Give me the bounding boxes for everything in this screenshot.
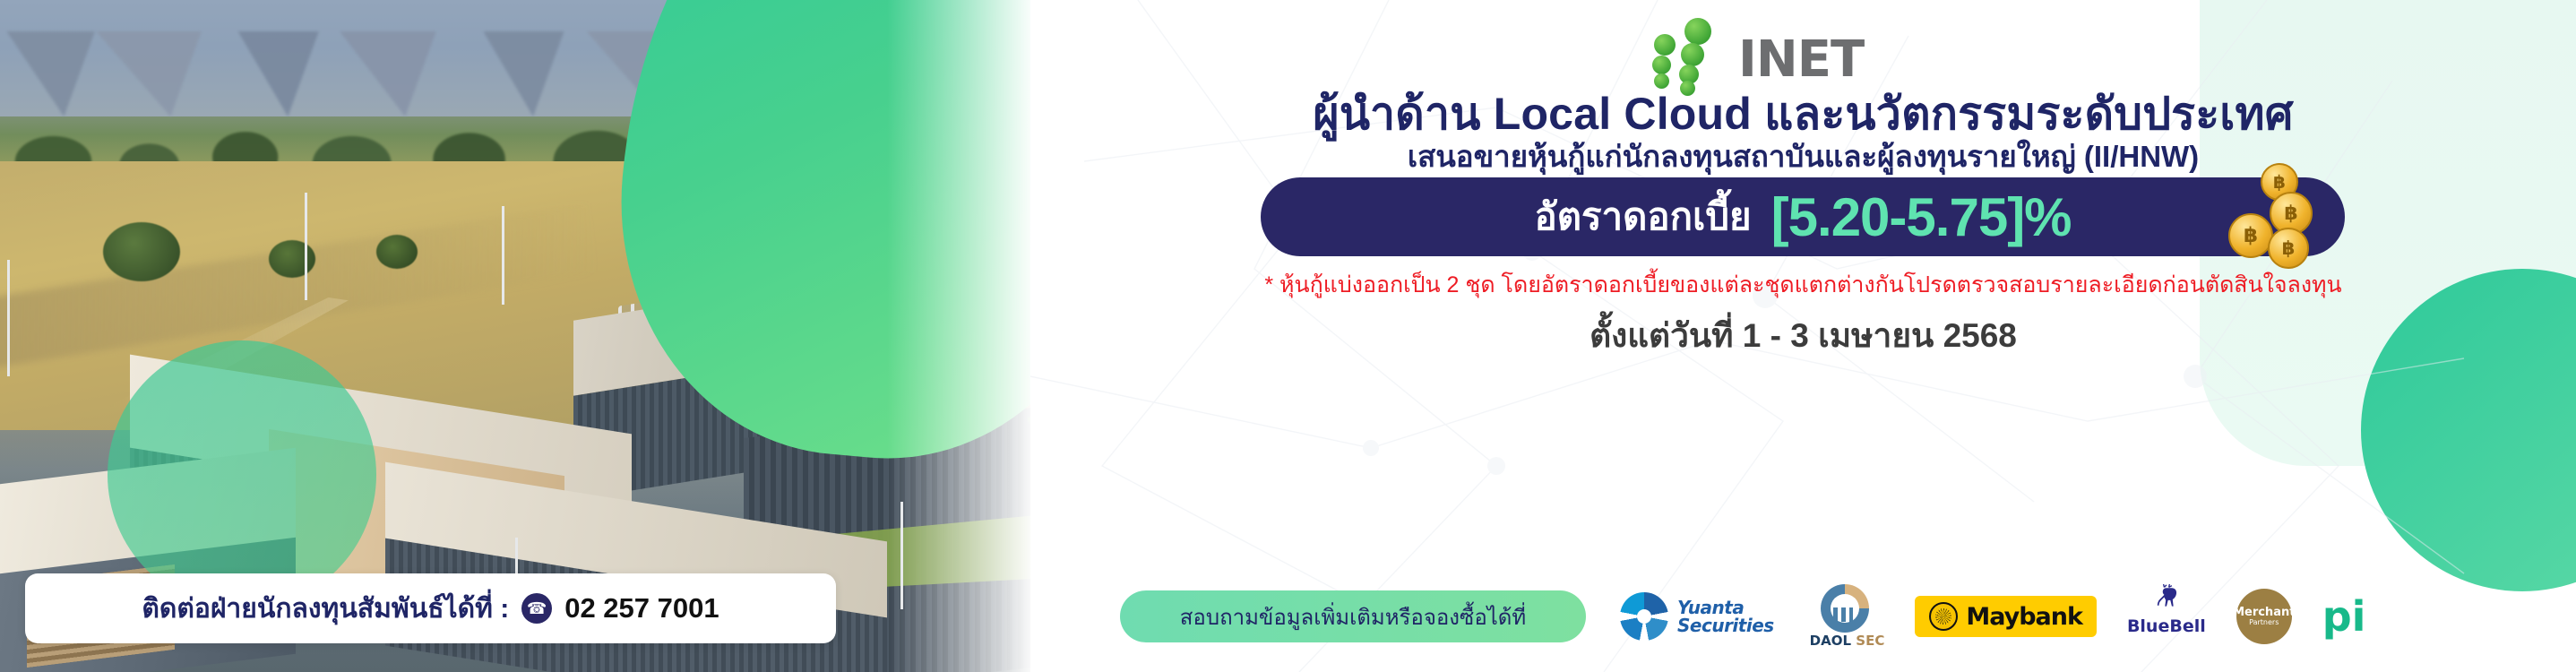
contact-phone-number[interactable]: 02 257 7001 xyxy=(564,592,719,625)
broker-logo-yuanta[interactable]: Yuanta Securities xyxy=(1620,584,1774,649)
disclaimer-text: * หุ้นกู้แบ่งออกเป็น 2 ชุด โดยอัตราดอกเบ… xyxy=(1030,267,2576,303)
merchant-wordmark: Merchant xyxy=(2233,607,2295,618)
broker-logo-bluebell[interactable]: BlueBell xyxy=(2127,584,2206,649)
daol-circle-icon xyxy=(1821,584,1869,633)
pi-logo-icon: pi xyxy=(2322,596,2366,637)
promotional-banner: INET ผู้นำด้าน Local Cloud และนวัตกรรมระ… xyxy=(0,0,2576,672)
yuanta-star-icon xyxy=(1620,592,1668,641)
yuanta-wordmark: Yuanta Securities xyxy=(1677,599,1774,634)
maybank-wordmark: Maybank xyxy=(1966,603,2082,631)
bluebell-wordmark: BlueBell xyxy=(2127,616,2206,636)
broker-logo-pi[interactable]: pi xyxy=(2322,584,2366,649)
content-panel: INET ผู้นำด้าน Local Cloud และนวัตกรรมระ… xyxy=(1030,0,2576,672)
green-circle-accent xyxy=(108,340,376,609)
inet-logo[interactable]: INET xyxy=(1638,16,1978,86)
offer-period: ตั้งแต่วันที่ 1 - 3 เมษายน 2568 xyxy=(1030,309,2576,362)
broker-logo-maybank[interactable]: Maybank xyxy=(1915,584,2097,649)
tree xyxy=(269,240,315,278)
broker-logo-daol[interactable]: DAOL SEC xyxy=(1805,584,1885,649)
utility-pole xyxy=(502,206,504,305)
contact-label: ติดต่อฝ่ายนักลงทุนสัมพันธ์ได้ที่ : xyxy=(142,588,509,630)
interest-rate-label: อัตราดอกเบี้ย xyxy=(1534,187,1751,246)
daol-wordmark: DAOL SEC xyxy=(1810,633,1885,649)
tree xyxy=(376,235,418,269)
page-subtitle: เสนอขายหุ้นกู้แก่นักลงทุนสถาบันและผู้ลงท… xyxy=(1030,133,2576,180)
investor-relations-contact-card[interactable]: ติดต่อฝ่ายนักลงทุนสัมพันธ์ได้ที่ : ☎ 02 … xyxy=(25,573,836,643)
contact-cta-button[interactable]: สอบถามข้อมูลเพิ่มเติมหรือจองซื้อได้ที่ xyxy=(1120,590,1586,642)
maybank-tiger-icon xyxy=(1929,602,1958,631)
utility-pole xyxy=(305,193,307,300)
broker-logo-merchant-partners[interactable]: Merchant Partners xyxy=(2236,584,2292,649)
broker-logo-list: Yuanta Securities DAOL SEC Mayba xyxy=(1620,584,2365,649)
utility-pole xyxy=(7,260,10,376)
merchant-subtitle: Partners xyxy=(2249,618,2279,627)
data-center-photo xyxy=(0,0,1066,672)
interest-rate-value: [5.20-5.75]% xyxy=(1771,186,2072,248)
phone-icon: ☎ xyxy=(521,593,552,624)
interest-rate-box: อัตราดอกเบี้ย [5.20-5.75]% ฿ ฿ ฿ ฿ xyxy=(1261,177,2345,256)
merchant-circle-icon: Merchant Partners xyxy=(2236,589,2292,644)
cta-row: สอบถามข้อมูลเพิ่มเติมหรือจองซื้อได้ที่ Y… xyxy=(1120,581,2518,652)
bluebell-deer-icon xyxy=(2151,584,2182,615)
gold-coins-icon: ฿ ฿ ฿ ฿ xyxy=(2219,161,2325,272)
inet-bubbles-logo-icon xyxy=(1638,16,1745,86)
tree xyxy=(103,222,180,281)
